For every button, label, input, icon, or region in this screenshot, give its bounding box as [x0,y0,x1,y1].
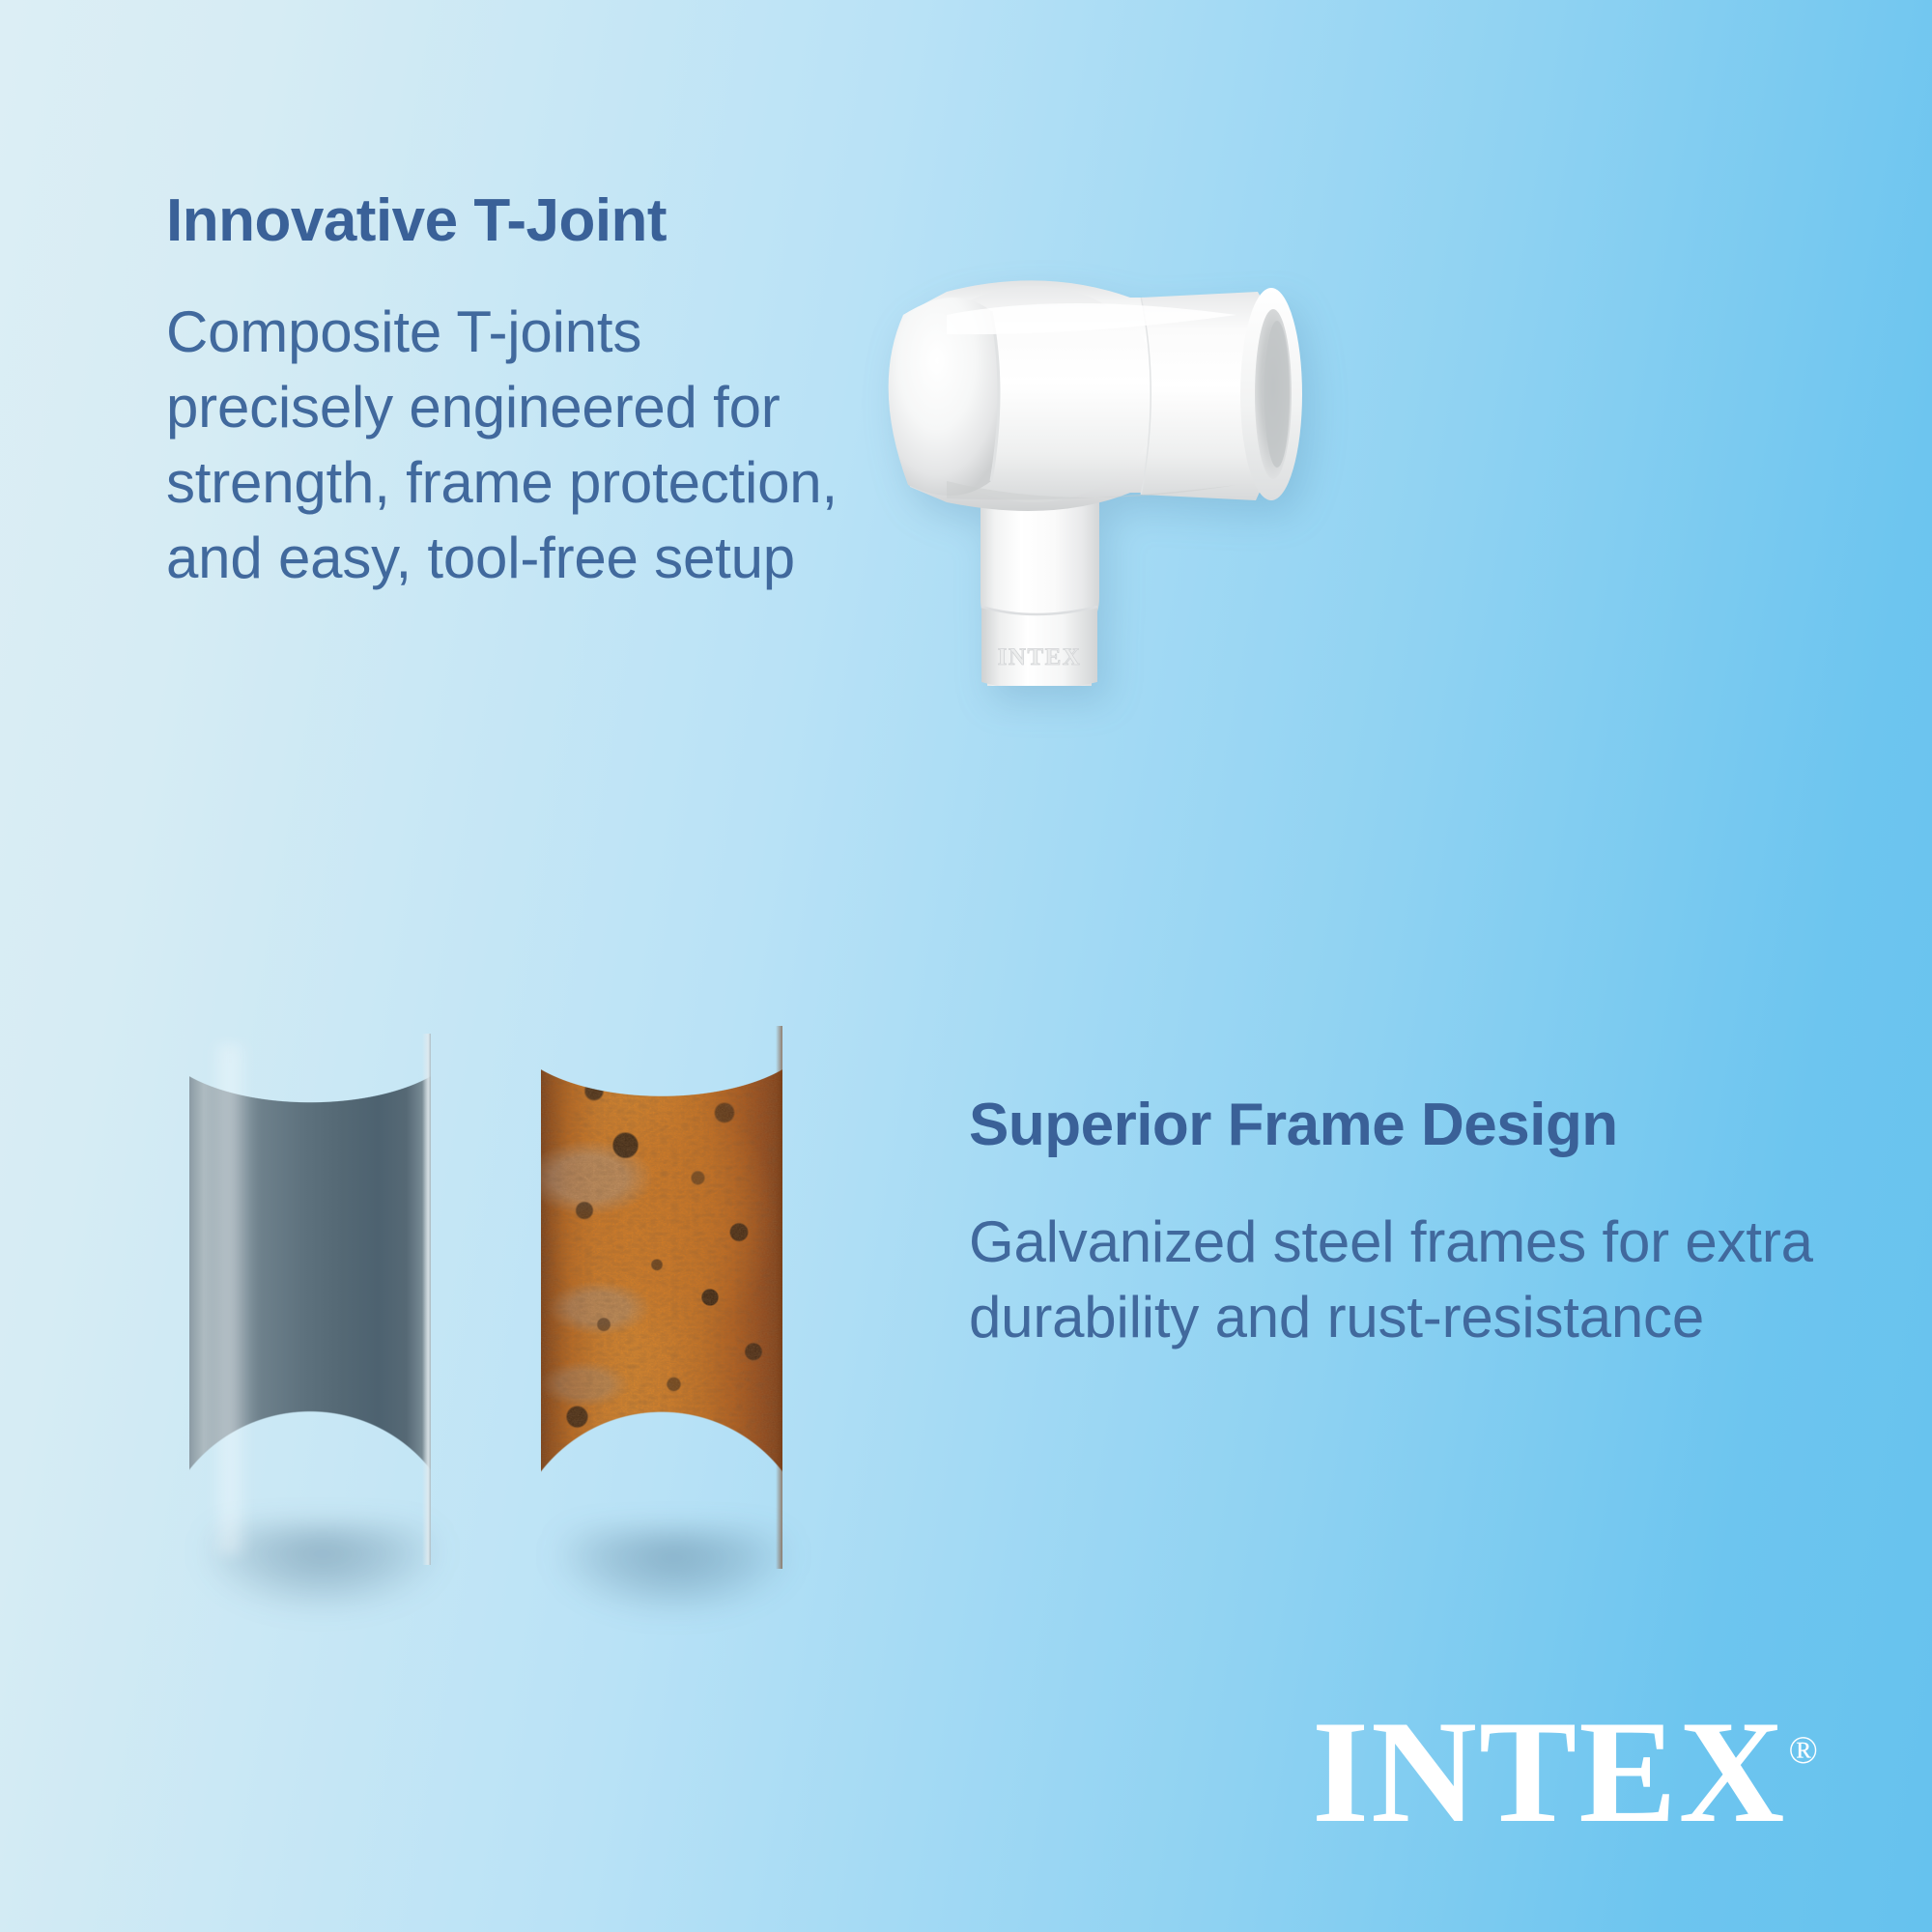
t-joint-geometry: INTEX [889,280,1302,686]
intex-wordmark: INTEX [1312,1690,1786,1853]
rusted-steel-pipe-sample [541,1026,782,1569]
feature-panel: Innovative T-Joint Composite T-joints pr… [0,0,1932,1932]
t-joint-image: INTEX [802,145,1381,686]
rust-grain-texture [541,1026,782,1569]
t-joint-bore-shadow [1264,321,1290,468]
pipe-surface [541,1026,782,1569]
t-joint-embossed-logo: INTEX [998,644,1082,670]
intex-logo: INTEX® [1312,1698,1816,1845]
t-joint-heading: Innovative T-Joint [166,189,862,252]
registered-trademark-icon: ® [1788,1728,1817,1772]
galvanized-steel-pipe-sample [189,1034,431,1565]
frame-body-text: Galvanized steel frames for extra durabi… [969,1205,1819,1355]
t-joint-feature-block: Innovative T-Joint Composite T-joints pr… [166,189,862,596]
t-joint-body-text: Composite T-joints precisely engineered … [166,295,862,596]
frame-feature-block: Superior Frame Design Galvanized steel f… [969,1094,1819,1355]
frame-heading: Superior Frame Design [969,1094,1819,1156]
pipe-surface [189,1034,431,1565]
